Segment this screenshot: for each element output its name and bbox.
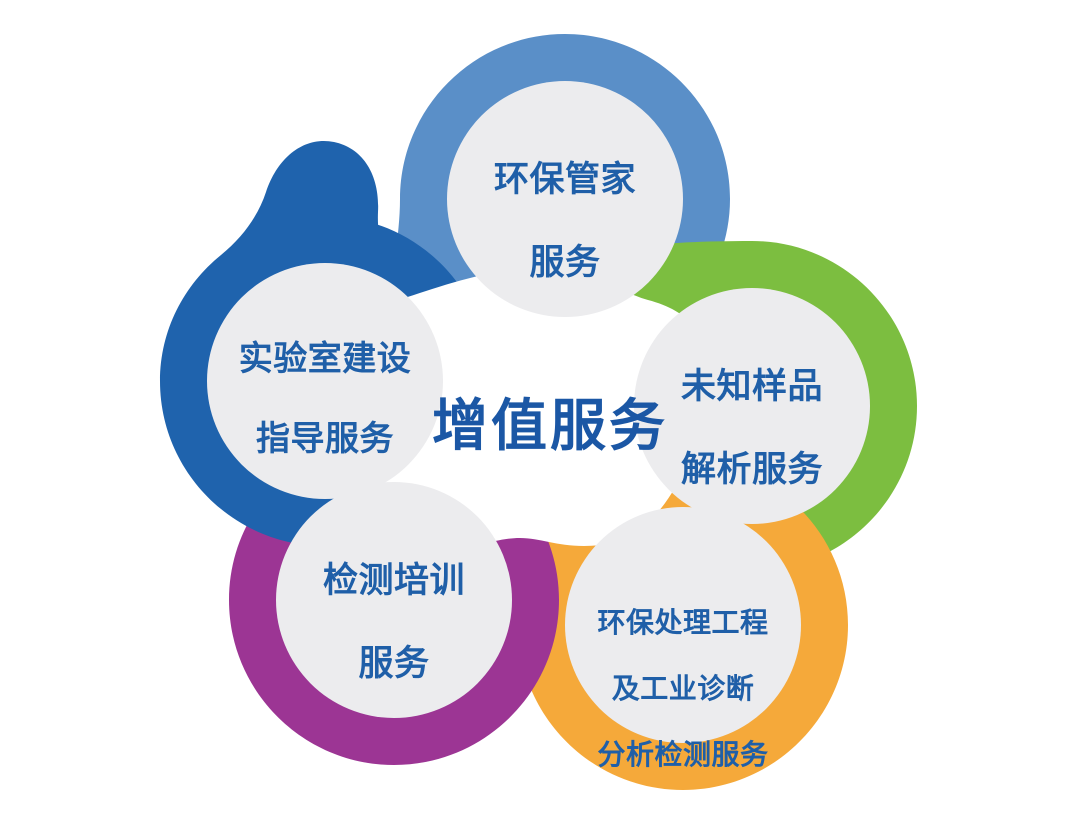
node-disc-bottom-right [565,507,801,743]
node-disc-top [447,81,683,317]
value-added-services-diagram: 环保管家 服务 未知样品 解析服务 环保处理工程 及工业诊断 分析检测服务 检测… [0,0,1080,817]
center-title: 增值服务 [400,395,700,457]
node-disc-bottom-left [276,482,512,718]
node-disc-left [207,263,443,499]
